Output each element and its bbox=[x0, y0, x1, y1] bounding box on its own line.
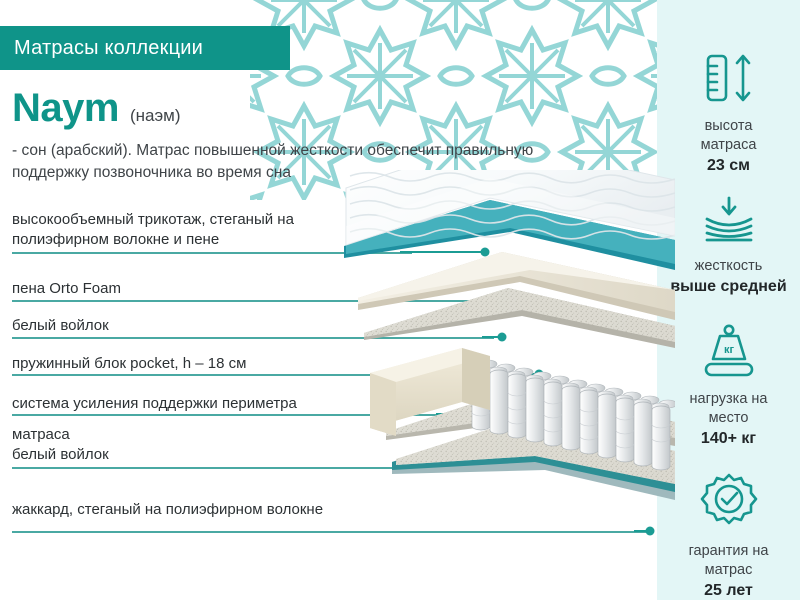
feature-firmness-caption: жесткость bbox=[695, 257, 763, 276]
collection-label: Матрасы коллекции bbox=[0, 37, 203, 60]
feature-height: высота матраса 23 см bbox=[657, 52, 800, 175]
weight-kg-icon: кг bbox=[698, 323, 760, 382]
feature-warranty-value: 25 лет bbox=[704, 582, 753, 600]
product-title: Naym (наэм) bbox=[12, 86, 180, 131]
feature-load-caption: нагрузка на место bbox=[690, 390, 768, 428]
badge-check-icon bbox=[700, 473, 758, 534]
collection-banner: Матрасы коллекции bbox=[0, 26, 290, 70]
layer-label-pocket-block: пружинный блок pocket, h – 18 см bbox=[12, 354, 246, 374]
leader-dot-jacquard bbox=[646, 527, 655, 536]
layer-label-jacquard: жаккард, стеганый на полиэфирном волокне bbox=[12, 500, 323, 520]
feature-load: кг нагрузка на место 140+ кг bbox=[657, 323, 800, 448]
feature-height-value: 23 см bbox=[707, 157, 750, 175]
layer-label-orto-foam: пена Orto Foam bbox=[12, 279, 121, 299]
feature-firmness-value: выше средней bbox=[670, 278, 786, 296]
layer-label-perimeter: система усиления поддержки периметра bbox=[12, 394, 297, 414]
layer-rule-jacquard bbox=[12, 531, 646, 533]
layer-label-knit-top: высокообъемный трикотаж, стеганый на пол… bbox=[12, 210, 294, 250]
firmness-waves-icon bbox=[699, 196, 759, 249]
mattress-cutaway-illustration bbox=[330, 170, 675, 520]
feature-warranty: гарантия на матрас 25 лет bbox=[657, 473, 800, 600]
brand-name: Naym bbox=[12, 86, 119, 131]
feature-load-value: 140+ кг bbox=[701, 430, 756, 448]
layer-label-white-felt-top: белый войлок bbox=[12, 316, 109, 336]
feature-firmness: жесткость выше средней bbox=[657, 196, 800, 296]
ruler-arrow-icon bbox=[701, 52, 757, 109]
layer-label-white-felt-bottom: матраса белый войлок bbox=[12, 425, 109, 465]
feature-panel: высота матраса 23 см жесткость выше сред… bbox=[657, 0, 800, 600]
feature-warranty-caption: гарантия на матрас bbox=[689, 542, 769, 580]
feature-height-caption: высота матраса bbox=[701, 117, 757, 155]
weight-icon-unit: кг bbox=[723, 344, 734, 356]
brand-transliteration: (наэм) bbox=[130, 106, 181, 126]
